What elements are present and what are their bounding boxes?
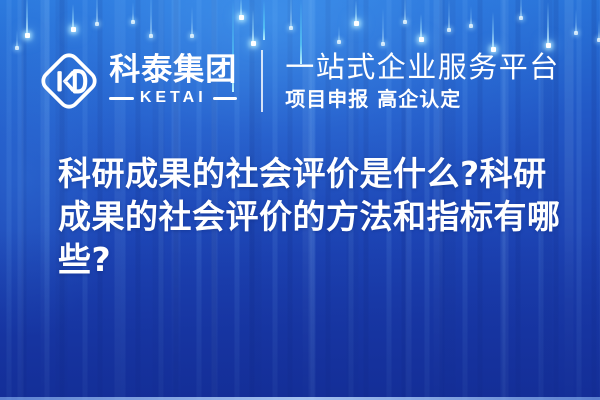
light-beam	[263, 0, 265, 40]
brand-name-cn: 科泰集团	[109, 55, 237, 87]
light-spark	[26, 0, 28, 36]
light-spark	[96, 0, 98, 24]
wordmark-rule-right	[213, 97, 238, 100]
header-divider	[261, 50, 263, 112]
headline-title: 科研成果的社会评价是什么?科研成果的社会评价的方法和指标有哪些?	[58, 152, 564, 281]
light-spark	[420, 14, 422, 40]
light-spark	[191, 6, 193, 36]
light-spark	[355, 0, 357, 24]
promo-banner: 科泰集团 KETAI 一站式企业服务平台 项目申报 高企认定 科研成果的社会评价…	[0, 0, 600, 400]
light-spark	[150, 0, 152, 36]
light-spark	[575, 9, 577, 33]
light-spark	[404, 0, 406, 22]
company-logo[interactable]: 科泰集团 KETAI	[40, 52, 237, 110]
light-spark	[132, 2, 134, 22]
company-slogan: 一站式企业服务平台 项目申报 高企认定	[285, 51, 560, 111]
light-spark	[520, 0, 522, 18]
slogan-secondary: 项目申报 高企认定	[285, 87, 560, 111]
light-spark	[338, 26, 340, 42]
light-spark	[470, 6, 472, 26]
light-spark	[448, 0, 450, 30]
light-spark	[547, 2, 549, 46]
light-spark	[252, 10, 254, 44]
light-spark	[290, 0, 292, 28]
brand-name-en-row: KETAI	[109, 89, 237, 107]
light-spark	[382, 8, 384, 44]
light-spark	[240, 0, 242, 18]
slogan-primary: 一站式企业服务平台	[285, 51, 560, 83]
banner-header: 科泰集团 KETAI 一站式企业服务平台 项目申报 高企认定	[0, 44, 600, 118]
wordmark-rule-left	[109, 97, 134, 100]
kd-diamond-monogram-icon	[40, 52, 98, 110]
logo-wordmark: 科泰集团 KETAI	[109, 55, 237, 108]
brand-name-en: KETAI	[139, 89, 208, 107]
light-spark	[72, 4, 74, 30]
